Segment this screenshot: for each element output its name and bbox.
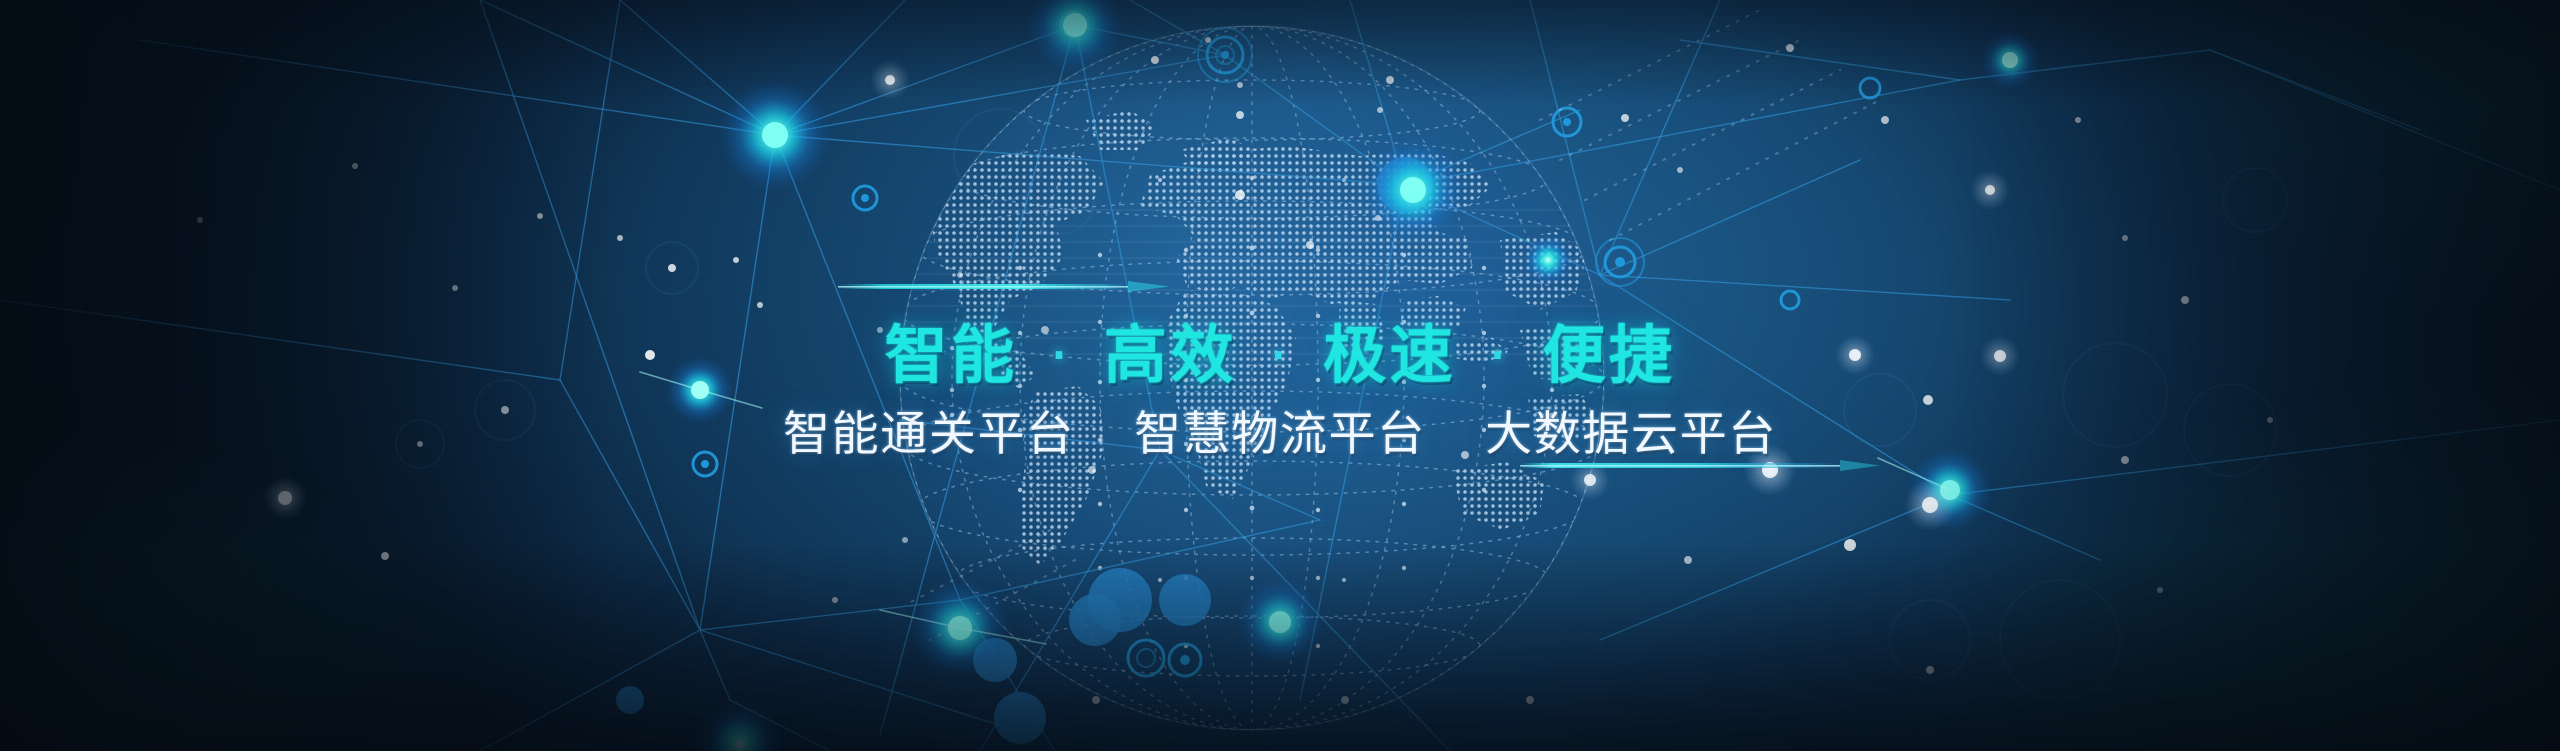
subtitle-item-2: 智慧物流平台 bbox=[1134, 407, 1426, 462]
headline-separator-2: · bbox=[1262, 319, 1298, 392]
background-dither-texture bbox=[0, 0, 2560, 751]
headline-word-4: 便捷 bbox=[1542, 319, 1675, 392]
background-vignette bbox=[0, 0, 2560, 751]
background-teal-glow-left bbox=[0, 0, 2560, 751]
headline-word-3: 极速 bbox=[1323, 319, 1456, 392]
tapered-accent-line-top-left bbox=[838, 281, 1170, 292]
hero-banner: 智能 · 高效 · 极速 · 便捷 智能通关平台 智慧物流平台 大数据云平台 bbox=[0, 0, 2560, 751]
headline-separator-1: · bbox=[1043, 319, 1079, 392]
headline-word-2: 高效 bbox=[1104, 319, 1237, 392]
dotted-wireframe-globe bbox=[0, 0, 2560, 751]
page-title: 智能 · 高效 · 极速 · 便捷 bbox=[0, 305, 2560, 396]
background-teal-glow-right bbox=[0, 0, 2560, 751]
page-subtitle: 智能通关平台 智慧物流平台 大数据云平台 bbox=[0, 395, 2560, 464]
headline-word-1: 智能 bbox=[885, 319, 1018, 392]
background-base-gradient bbox=[0, 0, 2560, 751]
subtitle-item-1: 智能通关平台 bbox=[783, 407, 1075, 462]
subtitle-item-3: 大数据云平台 bbox=[1485, 407, 1777, 462]
node-network-overlay bbox=[0, 0, 2560, 751]
headline-separator-3: · bbox=[1482, 319, 1518, 392]
tapered-accent-line-bottom-right bbox=[1520, 460, 1880, 471]
